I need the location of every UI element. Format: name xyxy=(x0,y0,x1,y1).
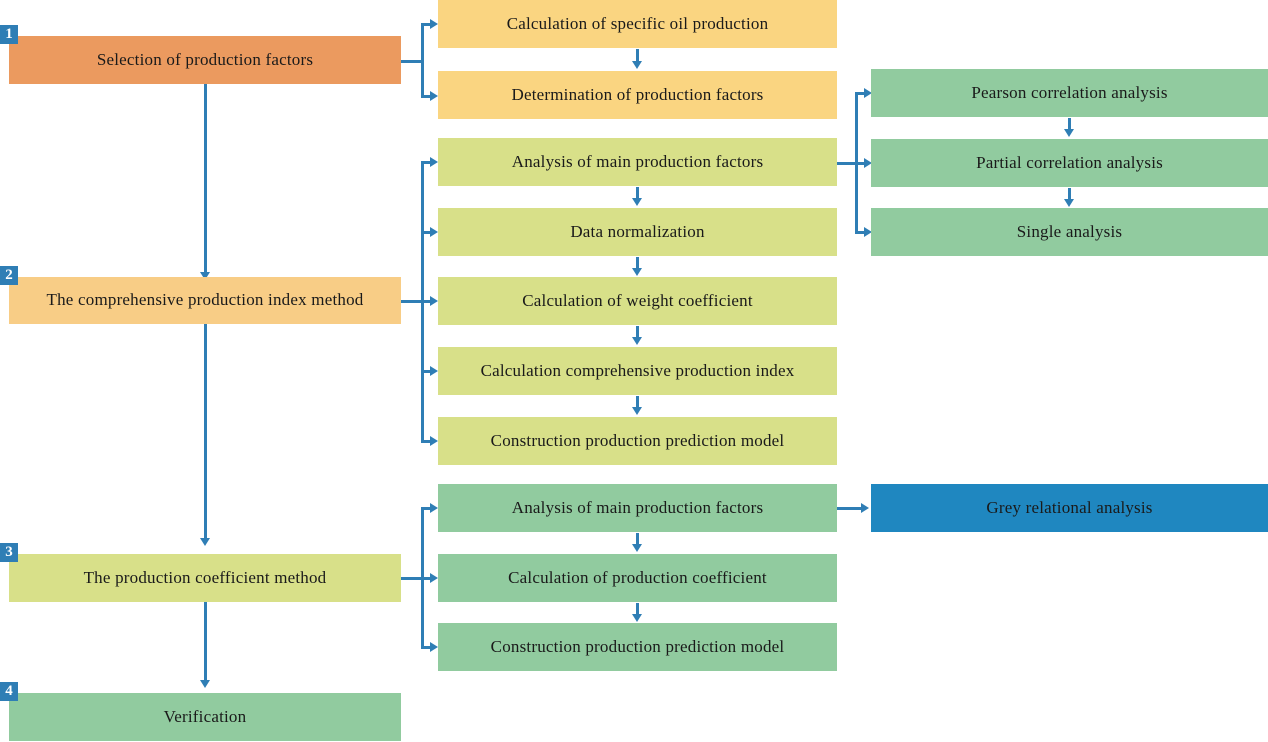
arrow-method2-to-method3 xyxy=(1064,199,1074,207)
connector-main-spine-3-4 xyxy=(204,602,207,684)
arrow-stage3-branch-2 xyxy=(430,573,438,583)
arrow-stage2-branch-3 xyxy=(430,296,438,306)
connector-stage2-stem xyxy=(401,300,423,303)
arrow-stage2-branch-1 xyxy=(430,157,438,167)
stage3-step-1[interactable]: Analysis of main production factors xyxy=(438,484,837,532)
arrow-main-spine-3-4 xyxy=(200,680,210,688)
stage-badge-3: 3 xyxy=(0,543,18,562)
connector-main-spine-1-2 xyxy=(204,84,207,276)
stage2-method-3[interactable]: Single analysis xyxy=(871,208,1268,256)
stage2-step-3[interactable]: Calculation of weight coefficient xyxy=(438,277,837,325)
arrow-stage3-branch-3 xyxy=(430,642,438,652)
arrow-stage3-step1-to-step2 xyxy=(632,544,642,552)
stage3-method-1[interactable]: Grey relational analysis xyxy=(871,484,1268,532)
stage1-step-1[interactable]: Calculation of specific oil production xyxy=(438,0,837,48)
arrow-main-spine-2-3 xyxy=(200,538,210,546)
arrow-stage2-branch-4 xyxy=(430,366,438,376)
connector-stage3-method-stem xyxy=(837,507,863,510)
stage-4-box[interactable]: Verification xyxy=(9,693,401,741)
stage2-step-5[interactable]: Construction production prediction model xyxy=(438,417,837,465)
stage2-step-4[interactable]: Calculation comprehensive production ind… xyxy=(438,347,837,395)
arrow-stage3-branch-1 xyxy=(430,503,438,513)
arrow-stage2-step2-to-step3 xyxy=(632,268,642,276)
stage3-step-2[interactable]: Calculation of production coefficient xyxy=(438,554,837,602)
arrow-stage2-branch-2 xyxy=(430,227,438,237)
arrow-stage1-branch-1 xyxy=(430,19,438,29)
stage2-method-1[interactable]: Pearson correlation analysis xyxy=(871,69,1268,117)
stage-badge-4: 4 xyxy=(0,682,18,701)
stage-3-box[interactable]: The production coefficient method xyxy=(9,554,401,602)
arrow-stage1-step1-to-step2 xyxy=(632,61,642,69)
arrow-stage2-step3-to-step4 xyxy=(632,337,642,345)
connector-stage1-stem xyxy=(401,60,423,63)
stage1-step-2[interactable]: Determination of production factors xyxy=(438,71,837,119)
stage-1-box[interactable]: Selection of production factors xyxy=(9,36,401,84)
arrow-stage3-step2-to-step3 xyxy=(632,614,642,622)
stage-badge-1: 1 xyxy=(0,25,18,44)
connector-stage2-methods-stem xyxy=(837,162,857,165)
arrow-stage3-method xyxy=(861,503,869,513)
stage3-step-3[interactable]: Construction production prediction model xyxy=(438,623,837,671)
stage2-method-2[interactable]: Partial correlation analysis xyxy=(871,139,1268,187)
arrow-stage2-step1-to-step2 xyxy=(632,198,642,206)
arrow-stage2-step4-to-step5 xyxy=(632,407,642,415)
stage2-step-1[interactable]: Analysis of main production factors xyxy=(438,138,837,186)
stage2-step-2[interactable]: Data normalization xyxy=(438,208,837,256)
arrow-method1-to-method2 xyxy=(1064,129,1074,137)
connector-stage1-spine xyxy=(421,24,424,98)
arrow-stage1-branch-2 xyxy=(430,91,438,101)
stage-badge-2: 2 xyxy=(0,266,18,285)
connector-main-spine-2-3 xyxy=(204,324,207,542)
flowchart-canvas: 1 Selection of production factors Calcul… xyxy=(0,0,1268,742)
connector-stage3-stem xyxy=(401,577,423,580)
stage-2-box[interactable]: The comprehensive production index metho… xyxy=(9,277,401,324)
arrow-stage2-branch-5 xyxy=(430,436,438,446)
